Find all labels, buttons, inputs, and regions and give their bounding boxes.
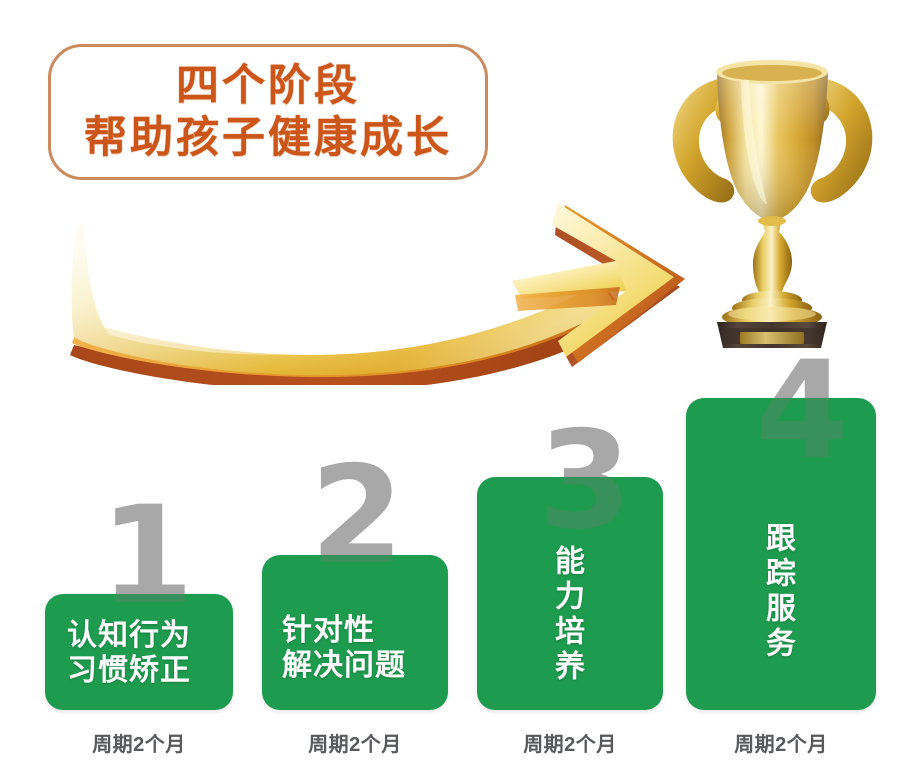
step-caption-3: 周期2个月 bbox=[477, 728, 663, 757]
step-label-3: 能力培养 bbox=[551, 545, 581, 685]
step-label-2: 针对性 解决问题 bbox=[282, 613, 406, 684]
step-label-4: 跟踪服务 bbox=[762, 522, 792, 662]
step-caption-4: 周期2个月 bbox=[686, 728, 876, 757]
step-label-2-line-1: 针对性 bbox=[282, 613, 406, 648]
step-number-4-overlap: 4 bbox=[755, 398, 849, 478]
step-number-3-overlap: 3 bbox=[538, 477, 632, 548]
step-card-1[interactable]: 1 认知行为 习惯矫正 bbox=[45, 594, 233, 710]
step-caption-2: 周期2个月 bbox=[262, 728, 448, 757]
step-label-2-line-2: 解决问题 bbox=[282, 648, 406, 683]
step-label-1-line-2: 习惯矫正 bbox=[67, 653, 191, 688]
step-label-1-line-1: 认知行为 bbox=[67, 618, 191, 653]
step-label-1: 认知行为 习惯矫正 bbox=[67, 618, 191, 689]
infographic-canvas: 四个阶段 帮助孩子健康成长 bbox=[0, 0, 900, 772]
step-card-3[interactable]: 3 能力培养 bbox=[477, 477, 663, 710]
step-caption-1: 周期2个月 bbox=[45, 728, 233, 757]
steps-group: 1 1 认知行为 习惯矫正 周期2个月 2 2 针对性 解决问题 周期2个月 bbox=[0, 0, 900, 772]
step-card-4[interactable]: 4 跟踪服务 bbox=[686, 398, 876, 710]
step-number-2-overlap: 2 bbox=[310, 555, 404, 583]
step-card-2[interactable]: 2 针对性 解决问题 bbox=[262, 555, 448, 710]
